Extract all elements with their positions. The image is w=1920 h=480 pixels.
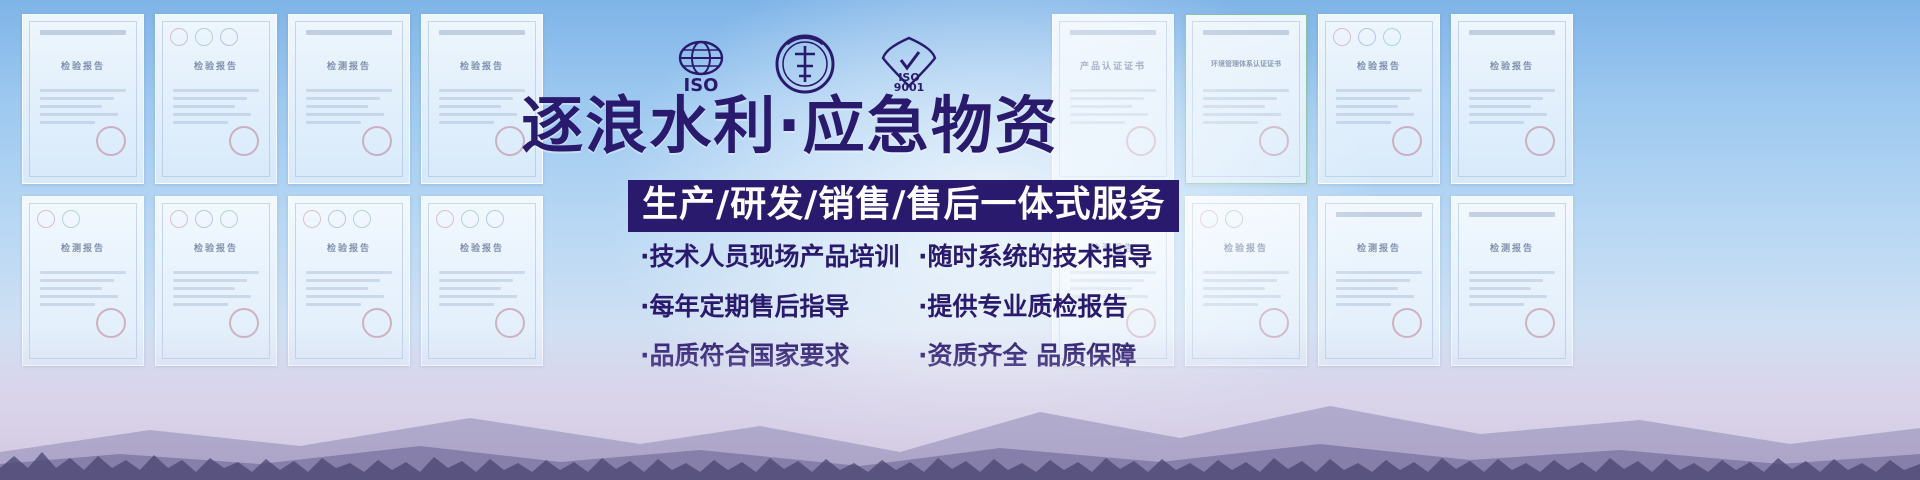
page-title: 逐浪水利·应急物资: [505, 95, 1075, 157]
iso-globe-badge-icon: ISO: [669, 32, 733, 96]
iso-9001-badge-icon: ISO 9001: [877, 32, 941, 96]
list-item: ·提供专业质检报告: [918, 293, 1200, 321]
promo-banner: 检验报告 检验报告 检测报告 检验报告 检测报告 检验报告: [0, 0, 1920, 480]
subtitle-text: 生产/研发/销售/售后一体式服务: [642, 187, 1165, 223]
quality-inspection-badge-icon: [773, 32, 837, 96]
banner-content: ISO ISO 9001 逐浪水利·应急物资: [0, 0, 1920, 480]
list-item: ·资质齐全 品质保障: [918, 342, 1200, 370]
service-feature-list: ·技术人员现场产品培训 ·随时系统的技术指导 ·每年定期售后指导 ·提供专业质检…: [640, 243, 1200, 370]
list-item: ·每年定期售后指导: [640, 293, 918, 321]
list-item: ·随时系统的技术指导: [918, 243, 1200, 271]
certification-badge-row: ISO ISO 9001: [625, 30, 985, 98]
list-item: ·品质符合国家要求: [640, 342, 918, 370]
list-item: ·技术人员现场产品培训: [640, 243, 918, 271]
subtitle-highlight-bar: 生产/研发/销售/售后一体式服务: [628, 180, 1179, 232]
